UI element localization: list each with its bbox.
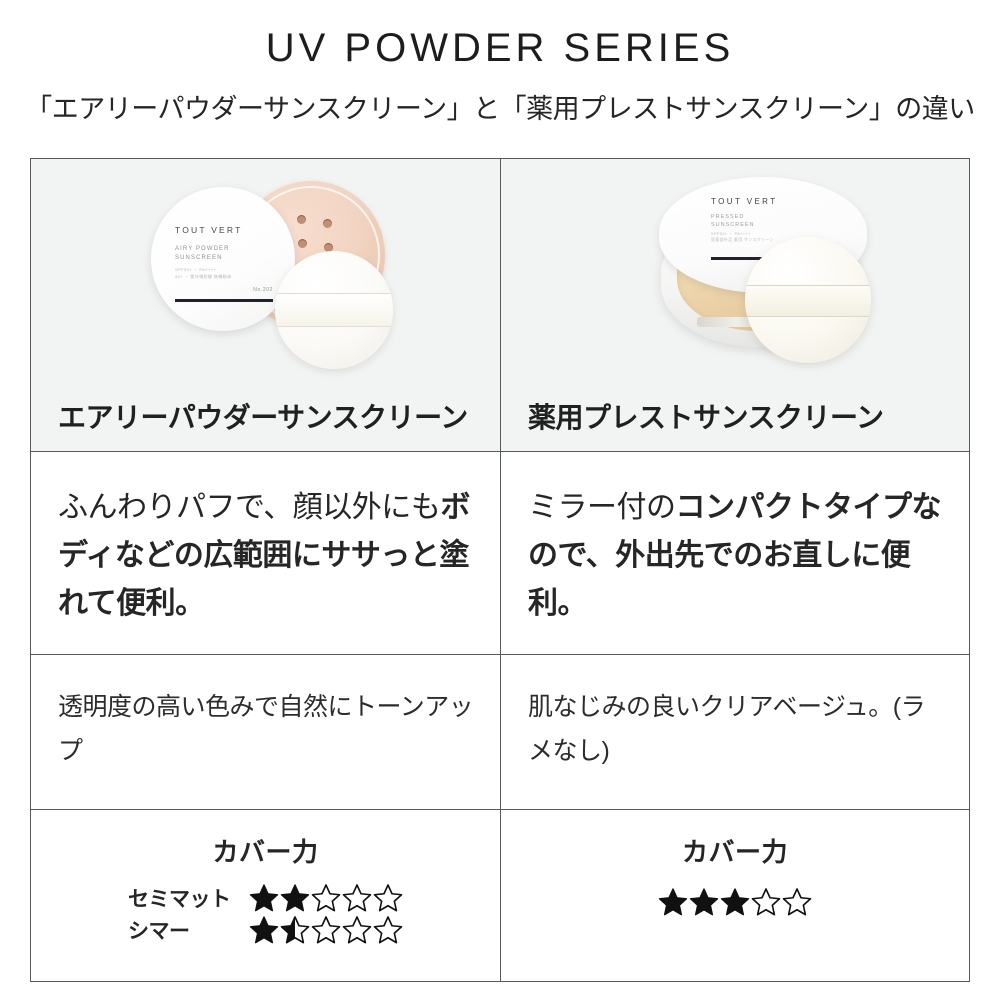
star-rating [249,883,403,913]
star-icon [720,887,750,917]
product-name-right: 薬用プレストサンスクリーン [501,381,969,451]
rating-list-right [501,869,969,917]
powder-jar-lid: TOUT VERT AIRY POWDERSUNSCREEN SPF50+ ・ … [151,187,295,331]
table-row-shade: 透明度の高い色みで自然にトーンアップ 肌なじみの良いクリアベージュ。(ラメなし) [31,654,969,809]
table-row-features: ふんわりパフで、顔以外にもボディなどの広範囲にササっと塗れて便利。 ミラー付のコ… [31,451,969,654]
rating-label: セミマット [128,883,249,913]
rating-label: シマー [128,915,249,945]
rating-row: セミマット [128,883,403,913]
shade-text-left: 透明度の高い色みで自然にトーンアップ [31,655,500,773]
lid-code-text: No.202 [253,287,273,293]
star-icon [342,915,372,945]
star-rating [249,915,403,945]
feature-plain-right: ミラー付の [528,491,676,524]
star-icon [373,915,403,945]
star-icon [373,883,403,913]
compact-powder-art: TOUT VERT PRESSEDSUNSCREEN SPF50+ ・ PA++… [501,159,969,381]
compact-lid-product-text: PRESSEDSUNSCREEN [711,213,755,229]
rating-list-left: セミマット シマー [31,869,500,945]
loose-powder-art: TOUT VERT AIRY POWDERSUNSCREEN SPF50+ ・ … [31,159,500,381]
shade-cell-right: 肌なじみの良いクリアベージュ。(ラメなし) [500,655,969,809]
rating-row: シマー [128,915,403,945]
compact-puff-band [745,285,871,317]
star-icon [658,887,688,917]
star-icon [311,883,341,913]
product-image-pressed-powder: TOUT VERT PRESSEDSUNSCREEN SPF50+ ・ PA++… [501,159,969,381]
star-icon [342,883,372,913]
lid-brand-text: TOUT VERT [175,225,243,235]
compact-lid-fine-print: SPF50+ ・ PA++++医薬部外品 薬用 サンスクリーン [711,231,774,243]
coverage-cell-right: カバー力 [500,810,969,981]
product-image-airy-powder: TOUT VERT AIRY POWDERSUNSCREEN SPF50+ ・ … [31,159,500,381]
feature-cell-right: ミラー付のコンパクトタイプなので、外出先でのお直しに便利。 [500,452,969,654]
lid-accent-bar [175,299,273,302]
table-row-coverage: カバー力 セミマット シマー カバー力 [31,809,969,981]
page-subtitle: 「エアリーパウダーサンスクリーン」と「薬用プレストサンスクリーン」の違い [0,68,1000,123]
feature-cell-left: ふんわりパフで、顔以外にもボディなどの広範囲にササっと塗れて便利。 [31,452,500,654]
star-icon [280,883,310,913]
comparison-table: TOUT VERT AIRY POWDERSUNSCREEN SPF50+ ・ … [30,158,970,982]
star-icon [782,887,812,917]
puff-band [275,293,393,327]
product-cell-left: TOUT VERT AIRY POWDERSUNSCREEN SPF50+ ・ … [31,159,500,451]
table-row-products: TOUT VERT AIRY POWDERSUNSCREEN SPF50+ ・ … [31,159,969,451]
star-icon [689,887,719,917]
coverage-cell-left: カバー力 セミマット シマー [31,810,500,981]
page-title: UV POWDER SERIES [0,0,1000,68]
lid-product-text: AIRY POWDERSUNSCREEN [175,245,230,263]
compact-lid-brand-text: TOUT VERT [711,197,778,206]
feature-text-right: ミラー付のコンパクトタイプなので、外出先でのお直しに便利。 [501,452,969,628]
feature-plain-left: ふんわりパフで、顔以外に [58,491,411,524]
product-cell-right: TOUT VERT PRESSEDSUNSCREEN SPF50+ ・ PA++… [500,159,969,451]
coverage-title-left: カバー力 [31,810,500,869]
star-icon [249,883,279,913]
feature-mid-left: も [411,491,441,524]
powder-puff-icon [275,251,393,369]
product-name-left: エアリーパウダーサンスクリーン [31,381,500,451]
infographic-page: UV POWDER SERIES 「エアリーパウダーサンスクリーン」と「薬用プレ… [0,0,1000,1000]
shade-cell-left: 透明度の高い色みで自然にトーンアップ [31,655,500,809]
star-icon [280,915,310,945]
compact-puff-icon [745,237,871,363]
star-icon [249,915,279,945]
star-icon [311,915,341,945]
shade-text-right: 肌なじみの良いクリアベージュ。(ラメなし) [501,655,969,773]
coverage-title-right: カバー力 [501,810,969,869]
feature-text-left: ふんわりパフで、顔以外にもボディなどの広範囲にササっと塗れて便利。 [31,452,500,628]
lid-fine-print: SPF50+ ・ PA++++50+ ・ 紫外線防御 無機粉体 [175,267,232,280]
star-rating [658,887,812,917]
star-icon [751,887,781,917]
